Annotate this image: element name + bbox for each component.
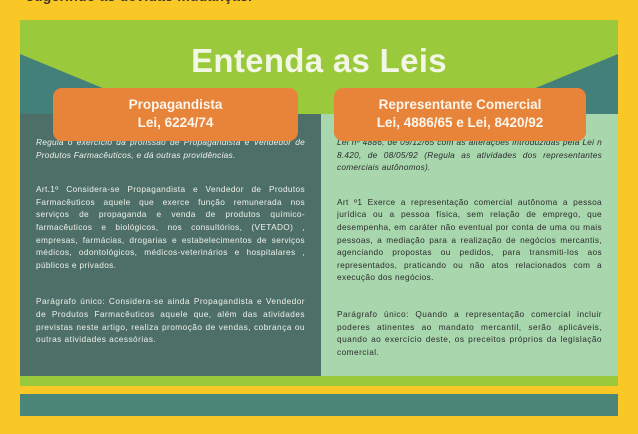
page-title: Entenda as Leis — [20, 42, 618, 80]
paragraph-left-3: Parágrafo único: Considera-se ainda Prop… — [36, 295, 305, 345]
column-header-representante: Representante Comercial Lei, 4886/65 e L… — [334, 88, 586, 141]
paragraph-right-3: Parágrafo único: Quando a representação … — [337, 308, 602, 358]
infographic-panel: Entenda as Leis Propagandista Lei, 6224/… — [20, 20, 618, 416]
footer-band-green — [20, 376, 618, 386]
footer-band-teal — [20, 394, 618, 416]
comparison-columns: Regula o exercício da profissão de Propa… — [20, 114, 618, 396]
column-header-law-right: Lei, 4886/65 e Lei, 8420/92 — [340, 114, 580, 132]
cutoff-heading-text: sugerindo as devidas mudanças. — [26, 0, 586, 6]
paragraph-right-2: Art º1 Exerce a representação comercial … — [337, 196, 602, 284]
paragraph-left-2: Art.1º Considera-se Propagandista e Vend… — [36, 183, 305, 271]
column-body-propagandista: Regula o exercício da profissão de Propa… — [20, 114, 321, 396]
column-header-law-left: Lei, 6224/74 — [59, 114, 292, 132]
column-body-representante: Lei nº 4886, de 09/12/65 com as alteraçõ… — [321, 114, 618, 396]
column-header-title-right: Representante Comercial — [340, 96, 580, 114]
column-header-propagandista: Propagandista Lei, 6224/74 — [53, 88, 298, 141]
column-header-title-left: Propagandista — [59, 96, 292, 114]
paragraph-right-1: Lei nº 4886, de 09/12/65 com as alteraçõ… — [337, 136, 602, 174]
footer-band-gap — [20, 386, 618, 394]
